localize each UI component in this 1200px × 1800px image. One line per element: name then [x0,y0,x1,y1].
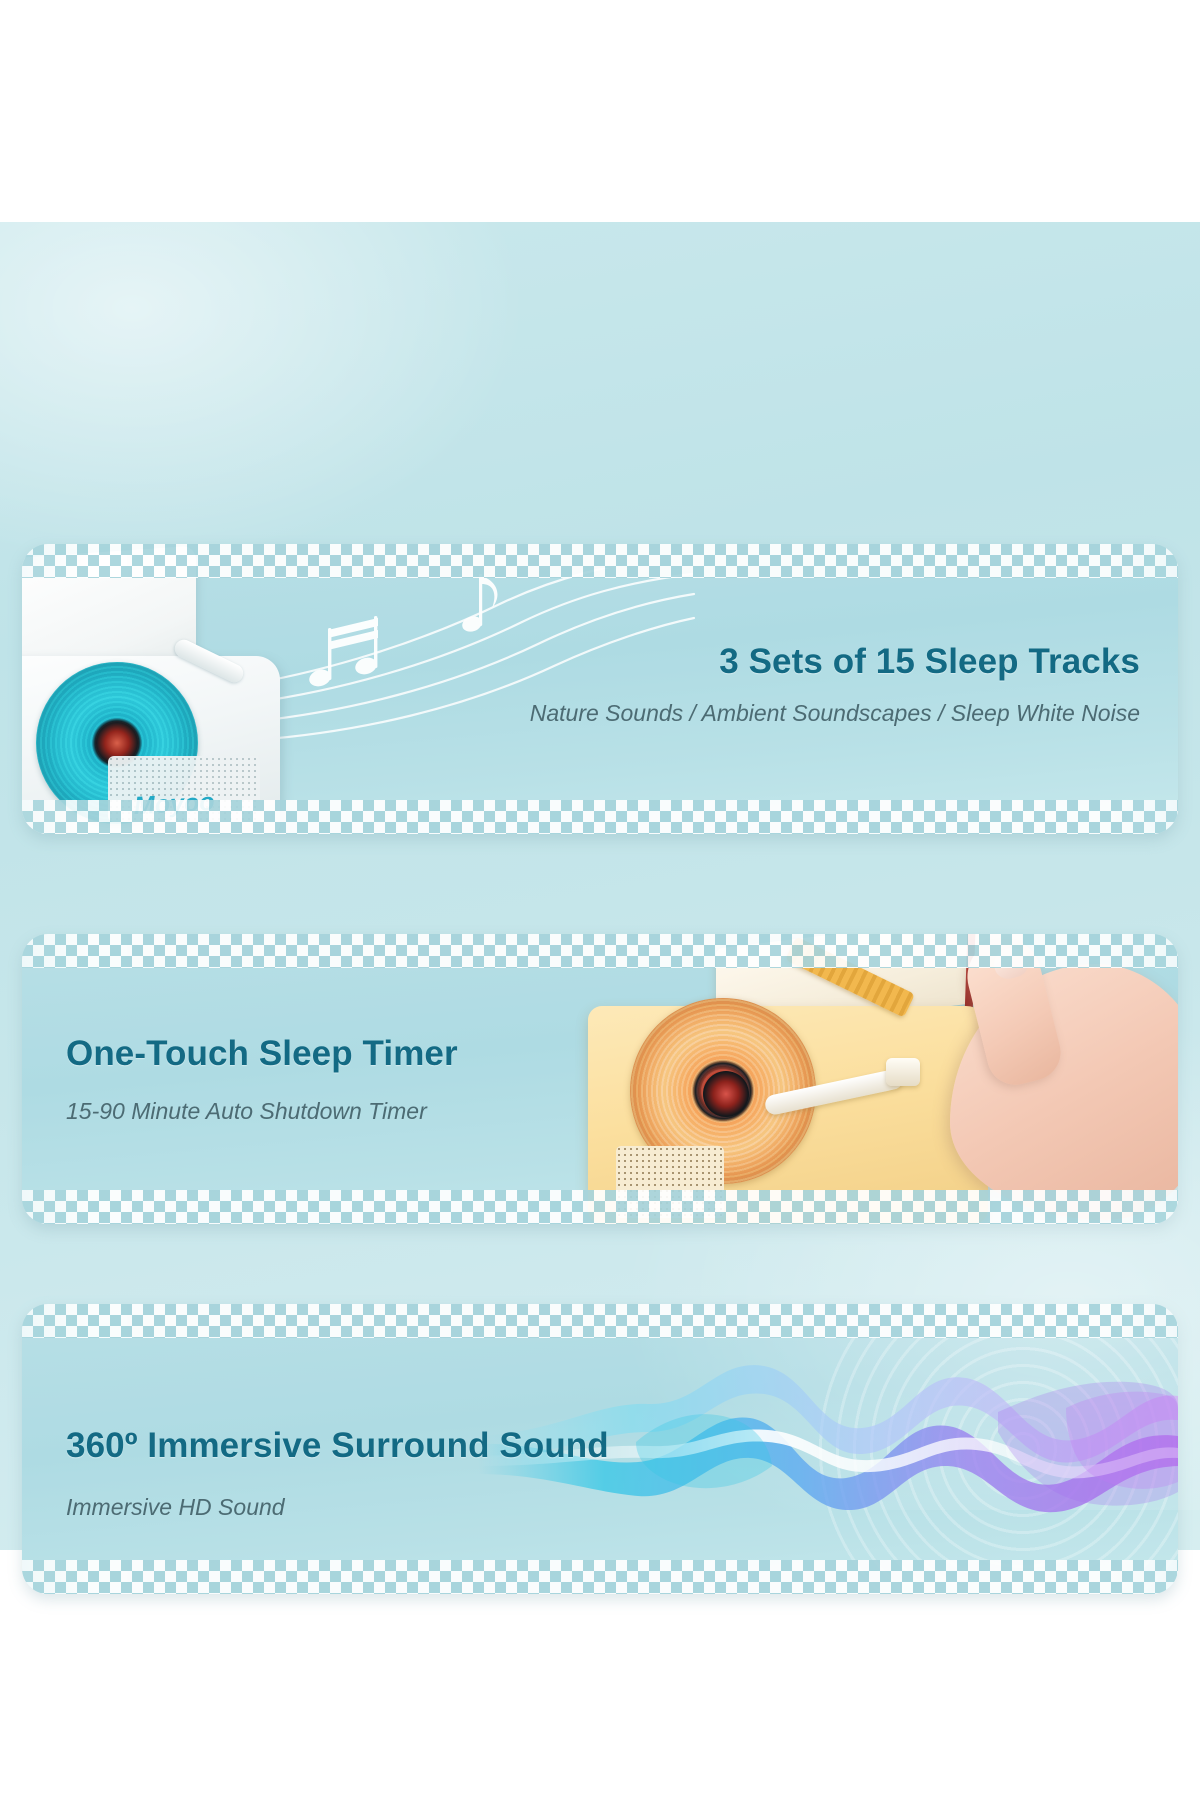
checker-strip-top [22,544,1178,578]
panel-heading: 3 Sets of 15 Sleep Tracks [719,642,1140,682]
infographic-canvas: Moyoo [0,222,1200,1550]
panel-subheading: 15-90 Minute Auto Shutdown Timer [66,1098,427,1125]
control-knob[interactable] [886,1058,920,1086]
feature-panel-sleep-tracks: Moyoo [22,544,1178,834]
checker-strip-bottom [22,1560,1178,1594]
checker-strip-bottom [22,1190,1178,1224]
panel-heading: 360º Immersive Surround Sound [66,1426,609,1466]
panel-body: One-Touch Sleep Timer 15-90 Minute Auto … [22,968,1178,1190]
panel-body: Moyoo [22,578,1178,800]
feature-panel-sleep-timer: One-Touch Sleep Timer 15-90 Minute Auto … [22,934,1178,1224]
panel-heading: One-Touch Sleep Timer [66,1034,458,1074]
checker-strip-top [22,934,1178,968]
panel-subheading: Immersive HD Sound [66,1494,285,1521]
panel-body: 360º Immersive Surround Sound Immersive … [22,1338,1178,1560]
checker-strip-top [22,1304,1178,1338]
product-feature-infographic: Moyoo [0,0,1200,1800]
panel-subheading: Nature Sounds / Ambient Soundscapes / Sl… [530,700,1140,727]
product-image-white-turntable: Moyoo [22,544,322,834]
disc-center-hub [703,1071,749,1117]
feature-panel-surround-sound: 360º Immersive Surround Sound Immersive … [22,1304,1178,1594]
checker-strip-bottom [22,800,1178,834]
product-image-yellow-turntable [568,934,1178,1224]
